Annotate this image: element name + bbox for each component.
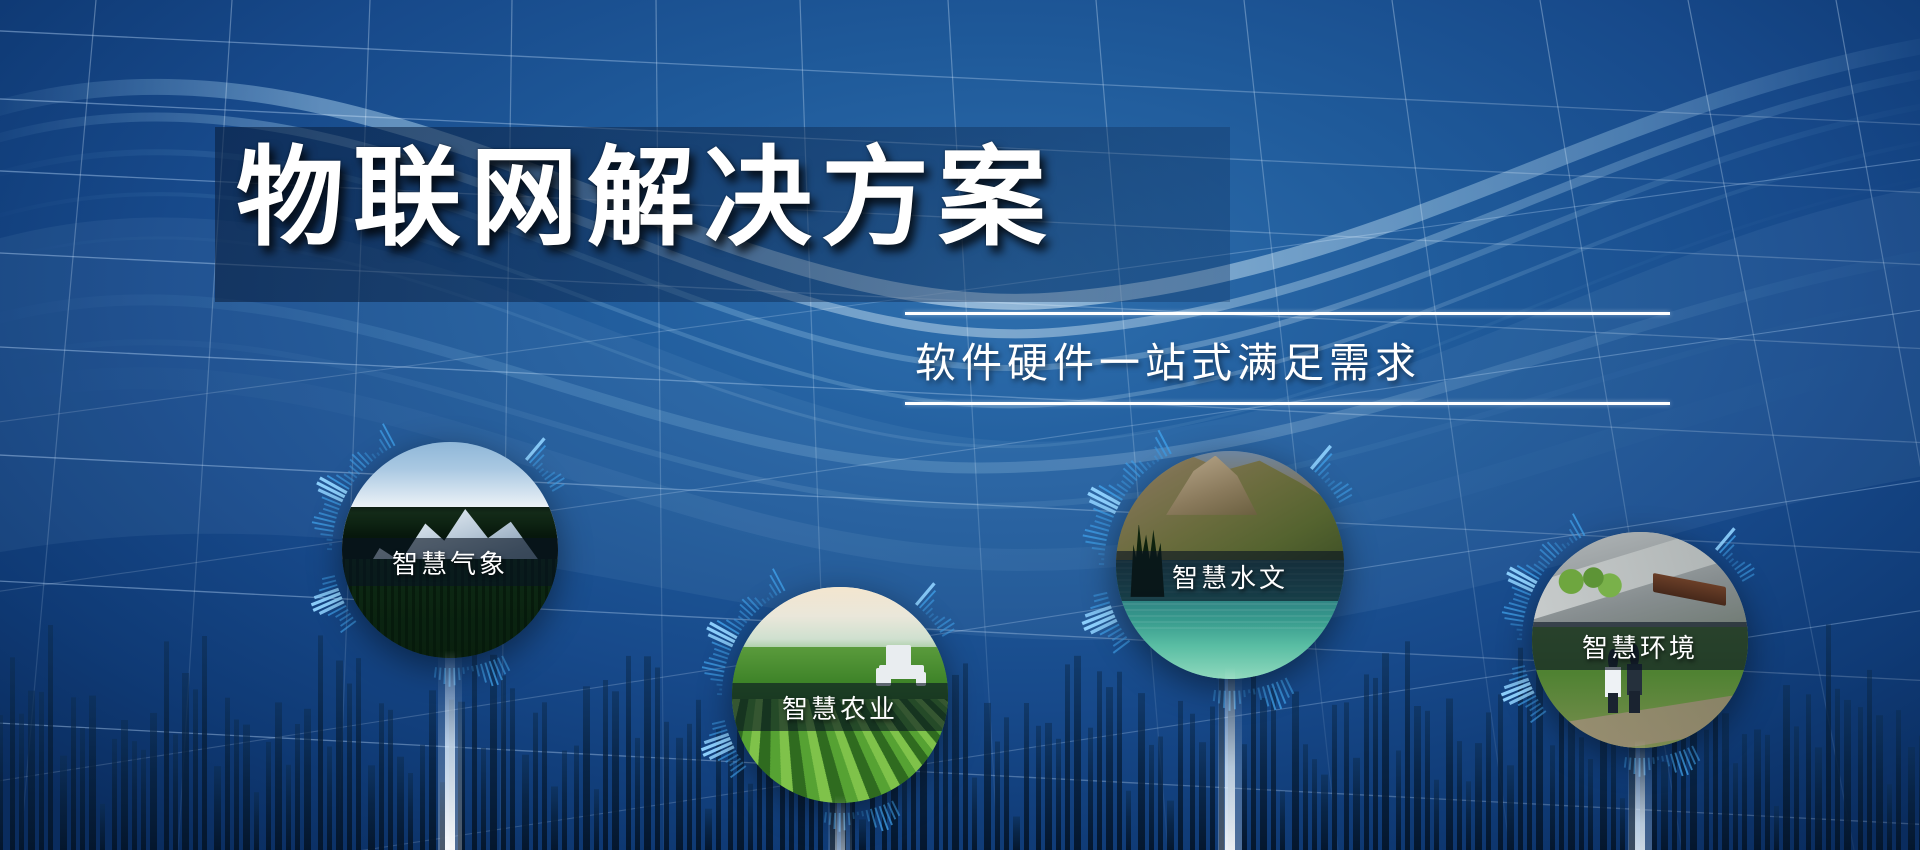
badge-agriculture[interactable]: 智慧农业 — [690, 545, 990, 845]
badge-label: 智慧农业 — [782, 689, 898, 726]
light-beam — [810, 795, 870, 850]
light-beam — [420, 650, 480, 850]
badge-weather[interactable]: 智慧气象 — [300, 400, 600, 700]
badge-label-band: 智慧环境 — [1532, 622, 1748, 670]
badge-label-band: 智慧气象 — [342, 538, 558, 586]
subtitle-block: 软件硬件一站式满足需求 — [905, 312, 1670, 405]
badge-image-environment[interactable]: 智慧环境 — [1532, 532, 1748, 748]
badge-label: 智慧水文 — [1172, 558, 1288, 595]
page-subtitle: 软件硬件一站式满足需求 — [905, 315, 1670, 402]
badge-label: 智慧气象 — [392, 544, 508, 581]
badge-label-band: 智慧农业 — [732, 683, 948, 731]
badge-image-agriculture[interactable]: 智慧农业 — [732, 587, 948, 803]
badge-label-band: 智慧水文 — [1116, 551, 1344, 601]
hero-banner: 物联网解决方案 软件硬件一站式满足需求 — [0, 0, 1920, 850]
badge-hydrology[interactable]: 智慧水文 — [1070, 405, 1390, 725]
badge-label: 智慧环境 — [1582, 628, 1698, 665]
light-beam — [1610, 740, 1670, 850]
light-beam — [1200, 667, 1260, 850]
badge-environment[interactable]: 智慧环境 — [1490, 490, 1790, 790]
badge-image-hydrology[interactable]: 智慧水文 — [1116, 451, 1344, 679]
badge-image-weather[interactable]: 智慧气象 — [342, 442, 558, 658]
page-title: 物联网解决方案 — [236, 125, 1236, 271]
